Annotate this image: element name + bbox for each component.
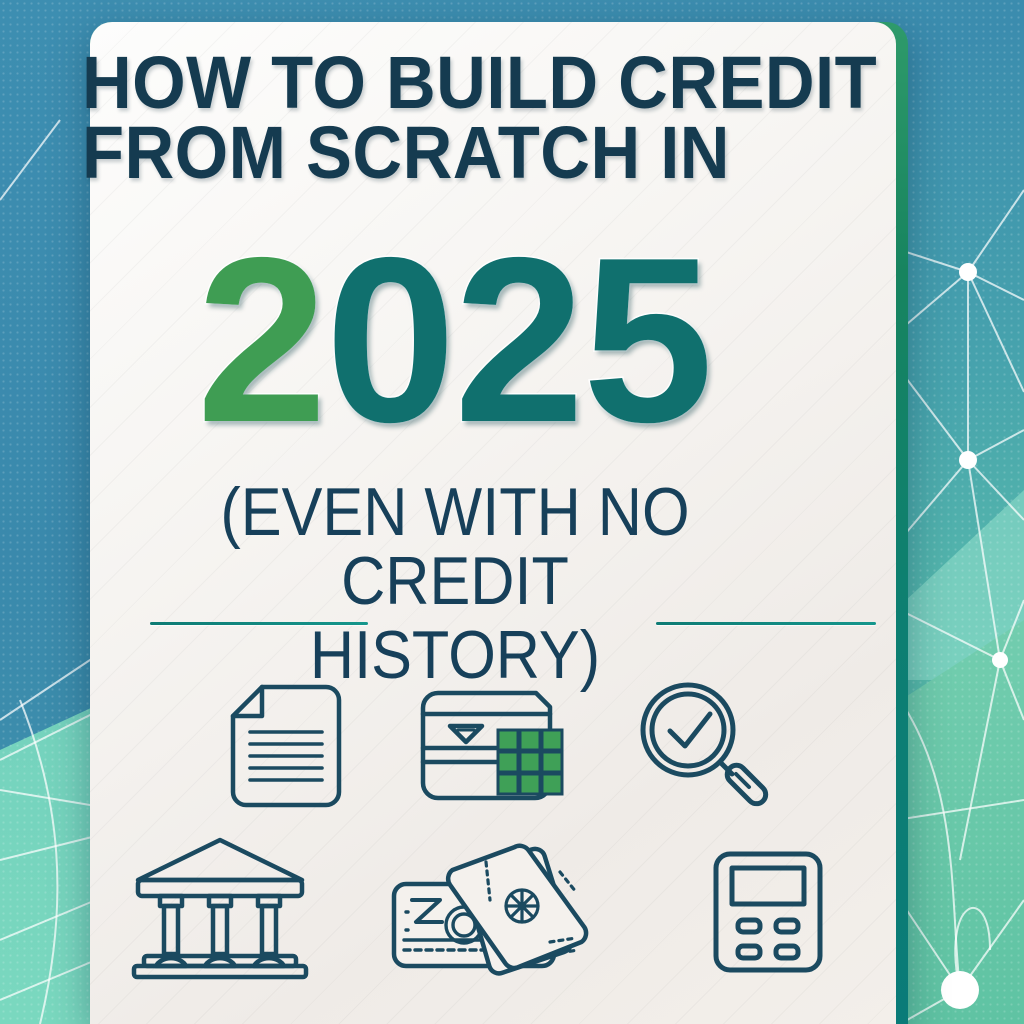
subtitle: (EVEN WITH NO CREDIT HISTORY) bbox=[100, 478, 811, 690]
year-digit-2: 0 bbox=[325, 222, 454, 457]
green-grid-block bbox=[498, 730, 562, 794]
year-digit-3: 2 bbox=[454, 222, 583, 457]
divider-rule-right bbox=[656, 622, 876, 625]
icon-grid bbox=[0, 660, 896, 1024]
subtitle-line-1: (EVEN WITH NO CREDIT bbox=[100, 478, 811, 617]
magnifier-check-icon bbox=[632, 674, 772, 814]
credit-card-icon bbox=[420, 690, 570, 800]
banknotes-icon bbox=[390, 842, 600, 972]
divider-rule-left bbox=[150, 622, 368, 625]
poster-canvas: HOW TO BUILD CREDIT FROM SCRATCH IN 2025… bbox=[0, 0, 1024, 1024]
year-digit-4: 5 bbox=[583, 222, 712, 457]
bank-icon bbox=[130, 838, 310, 978]
document-icon bbox=[228, 684, 344, 808]
year-display: 2025 bbox=[44, 222, 864, 457]
calculator-icon bbox=[712, 850, 824, 974]
page-title: HOW TO BUILD CREDIT FROM SCRATCH IN bbox=[82, 48, 900, 189]
year-digit-1: 2 bbox=[197, 222, 326, 457]
